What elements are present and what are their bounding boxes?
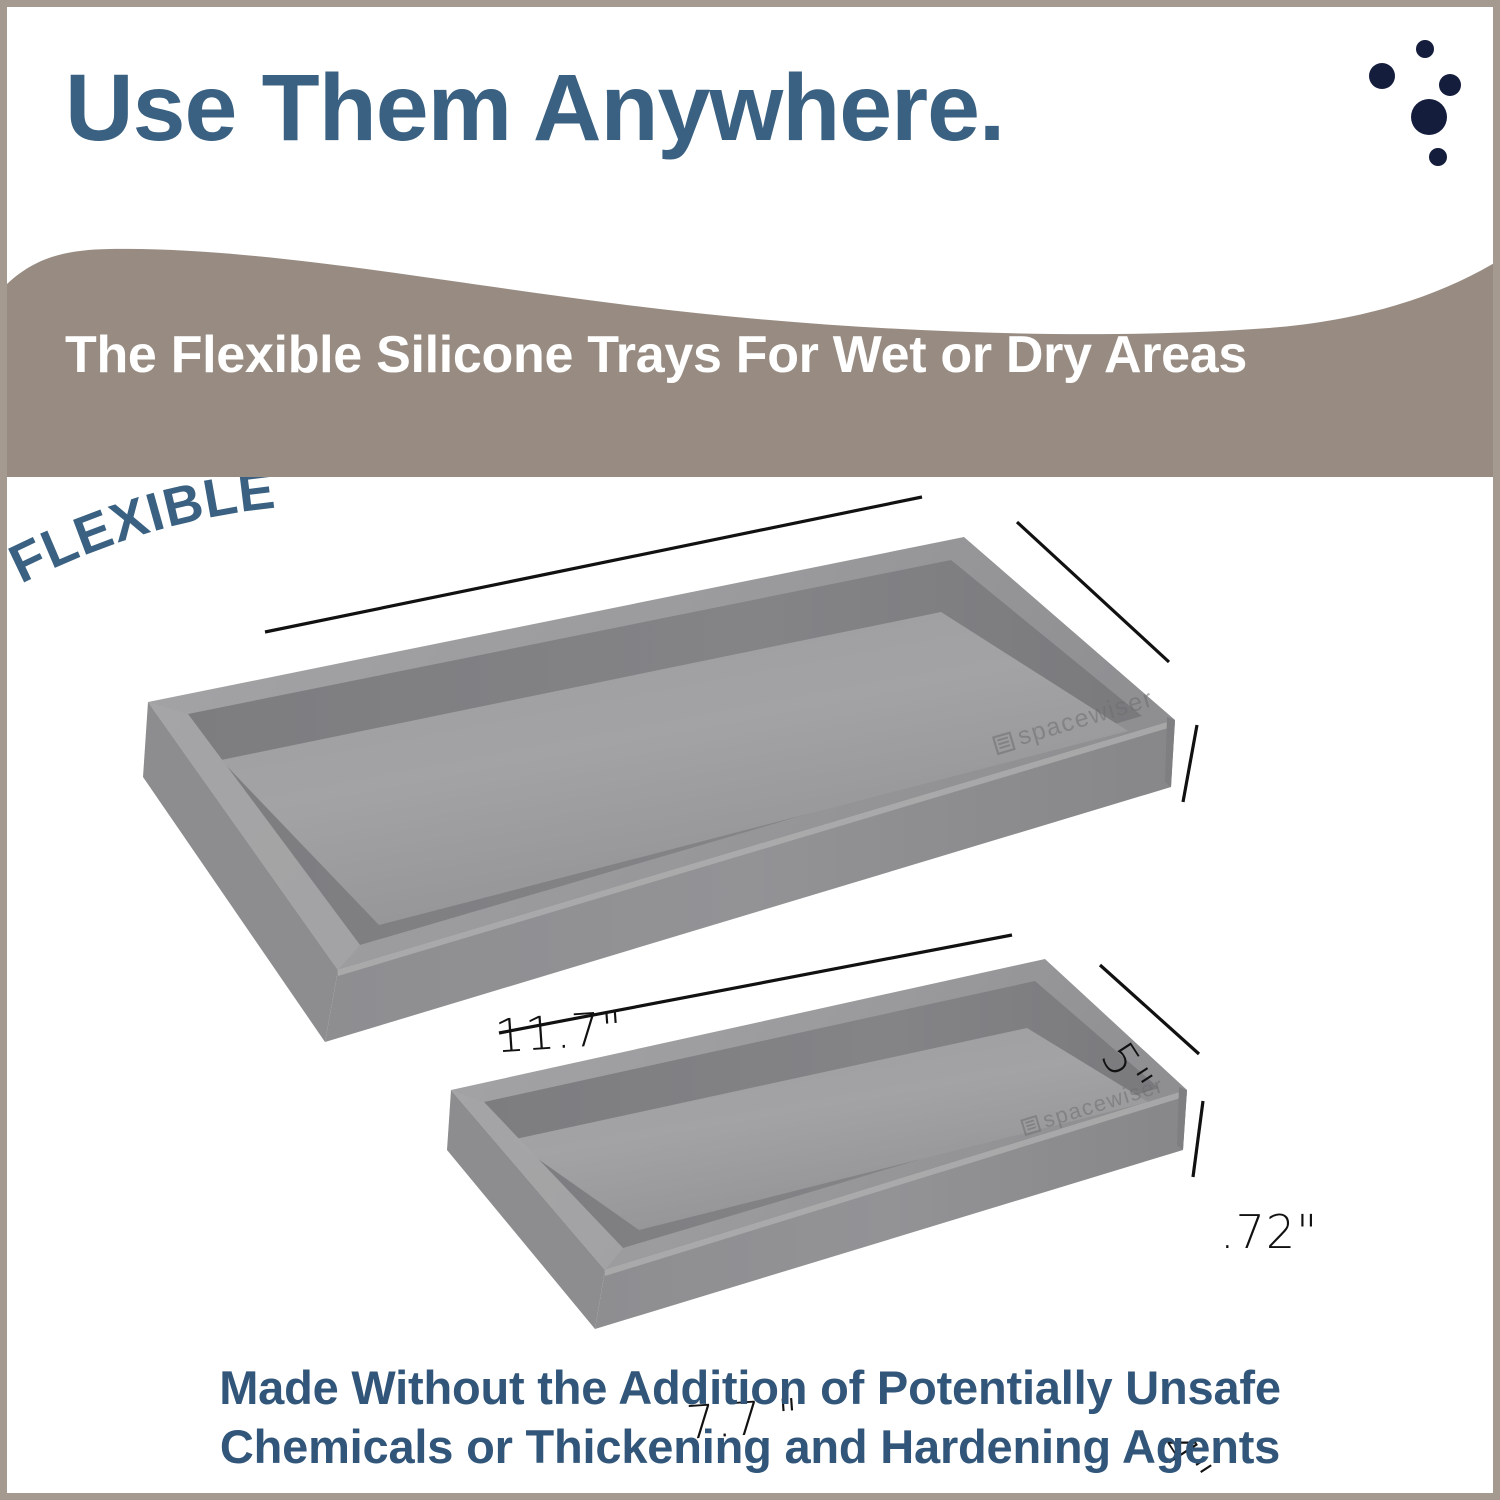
large-height-leader [1183, 725, 1197, 802]
product-illustration: spacewiser [7, 477, 1493, 1377]
flexible-badge: FLEXIBLE [7, 477, 337, 607]
caption-line-1: Made Without the Addition of Potentially… [7, 1359, 1493, 1418]
subtitle-banner: The Flexible Silicone Trays For Wet or D… [0, 232, 1500, 477]
dot-3-icon [1439, 74, 1461, 96]
banner-subtitle: The Flexible Silicone Trays For Wet or D… [65, 325, 1455, 385]
dot-5-icon [1429, 148, 1447, 166]
large-tray-length-label: 11.7" [493, 1001, 625, 1064]
page-title: Use Them Anywhere. [65, 59, 1004, 159]
dot-1-icon [1416, 40, 1434, 58]
decorative-dot-cluster-icon [1362, 27, 1492, 197]
flexible-badge-label: FLEXIBLE [7, 477, 279, 595]
infographic-page: Use Them Anywhere. The Flexible Silicone… [0, 0, 1500, 1500]
dot-4-icon [1411, 99, 1447, 135]
small-height-leader [1193, 1101, 1203, 1177]
caption-line-2: Chemicals or Thickening and Hardening Ag… [7, 1418, 1493, 1477]
dot-2-icon [1369, 63, 1395, 89]
large-tray-height-label: .72" [1220, 1205, 1318, 1259]
bottom-caption: Made Without the Addition of Potentially… [7, 1359, 1493, 1477]
